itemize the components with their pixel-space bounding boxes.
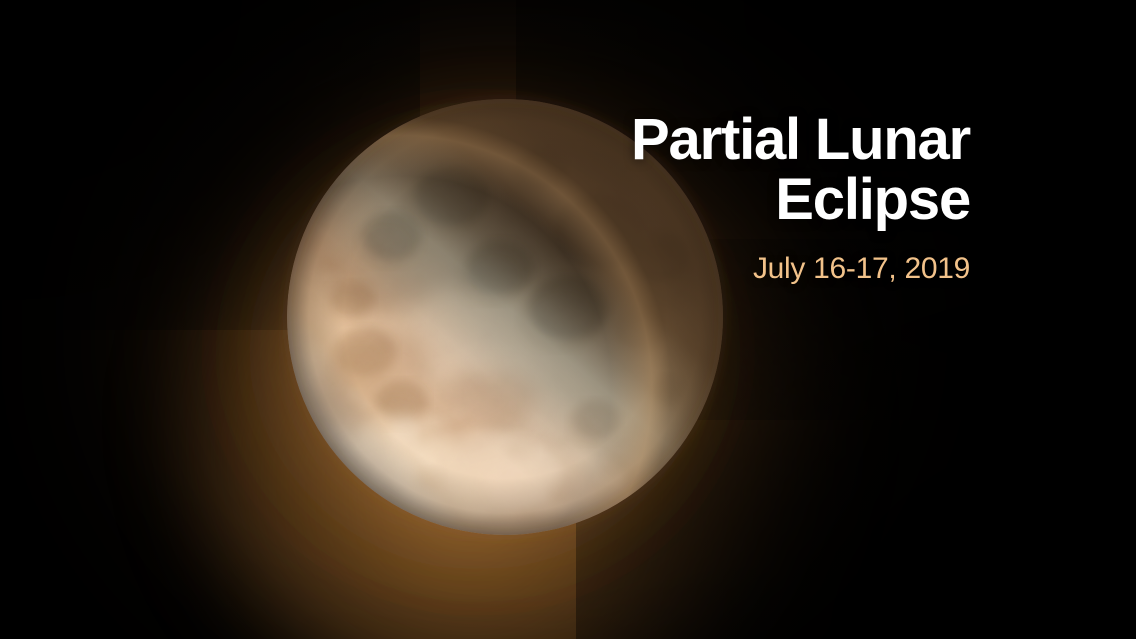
crater <box>596 457 626 482</box>
crater <box>429 414 472 450</box>
crater <box>409 165 490 234</box>
vignette-overall <box>0 0 1136 639</box>
crater <box>327 282 374 322</box>
background-glow <box>0 0 1136 639</box>
title-block: Partial Lunar Eclipse July 16-17, 2019 <box>520 110 970 286</box>
vignette-bottom-right <box>576 239 1136 639</box>
title-line-1: Partial Lunar <box>631 107 970 172</box>
crater <box>502 437 536 466</box>
event-date: July 16-17, 2019 <box>520 252 970 286</box>
crater <box>332 327 396 382</box>
crater <box>312 249 346 278</box>
glow-halo <box>0 0 1065 639</box>
crater <box>610 309 666 356</box>
eclipse-poster: Partial Lunar Eclipse July 16-17, 2019 <box>0 0 1136 639</box>
crater <box>539 475 578 508</box>
moon-illustration <box>0 0 1136 639</box>
title-line-2: Eclipse <box>520 170 970 230</box>
crater <box>413 468 445 495</box>
crater <box>647 375 686 408</box>
crater <box>358 211 422 266</box>
vignette-top-left <box>0 0 420 330</box>
crater <box>372 381 428 428</box>
crater <box>522 275 608 348</box>
crater <box>569 400 620 444</box>
page-title: Partial Lunar Eclipse <box>520 110 970 230</box>
